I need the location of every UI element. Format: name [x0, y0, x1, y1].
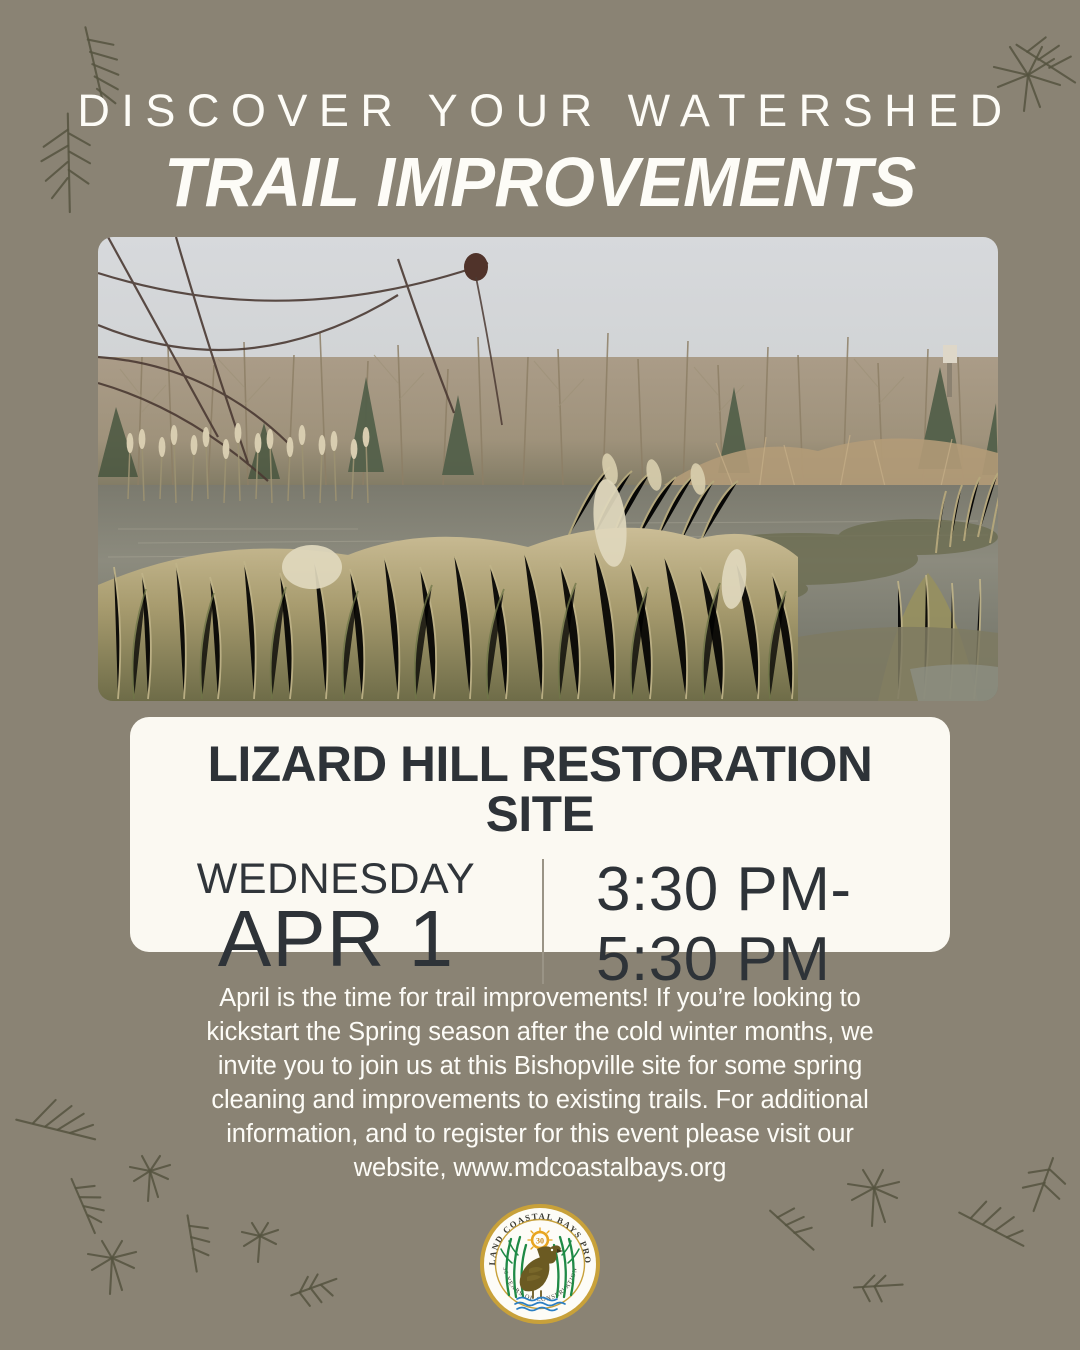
event-info-card: LIZARD HILL RESTORATION SITE WEDNESDAY A…	[130, 717, 950, 952]
fern-sprig-icon	[160, 1210, 226, 1278]
headline-text: TRAIL IMPROVEMENTS	[22, 147, 1059, 217]
grass-burst-icon	[240, 1222, 280, 1264]
fern-sprig-icon	[1013, 1150, 1077, 1222]
fern-sprig-icon	[848, 1269, 907, 1309]
grass-burst-icon	[128, 1155, 172, 1203]
fern-sprig-icon	[953, 1186, 1035, 1273]
fern-sprig-icon	[285, 1268, 344, 1315]
time-start-label: 3:30 PM-	[596, 855, 852, 925]
site-title: LIZARD HILL RESTORATION SITE	[134, 739, 946, 839]
kicker-text: DISCOVER YOUR WATERSHED	[0, 88, 1080, 133]
logo-badge-number: 30	[536, 1236, 544, 1245]
grass-burst-icon	[86, 1240, 140, 1296]
date-block: WEDNESDAY APR 1	[130, 853, 542, 998]
event-flyer: DISCOVER YOUR WATERSHED TRAIL IMPROVEMEN…	[0, 0, 1080, 1350]
time-block: 3:30 PM- 5:30 PM	[544, 853, 950, 998]
fern-sprig-icon	[8, 1085, 105, 1175]
description-paragraph: April is the time for trail improvements…	[180, 982, 900, 1185]
card-columns: WEDNESDAY APR 1 3:30 PM- 5:30 PM	[130, 853, 950, 998]
date-label: APR 1	[218, 898, 454, 980]
flyer-header: DISCOVER YOUR WATERSHED TRAIL IMPROVEMEN…	[0, 0, 1080, 217]
organization-logo: MARYLAND COASTAL BAYS PROGRAM 30 YEARS O…	[479, 1203, 601, 1325]
fern-sprig-icon	[54, 1174, 111, 1240]
fern-sprig-icon	[766, 1201, 820, 1260]
wetland-photo	[98, 237, 998, 701]
